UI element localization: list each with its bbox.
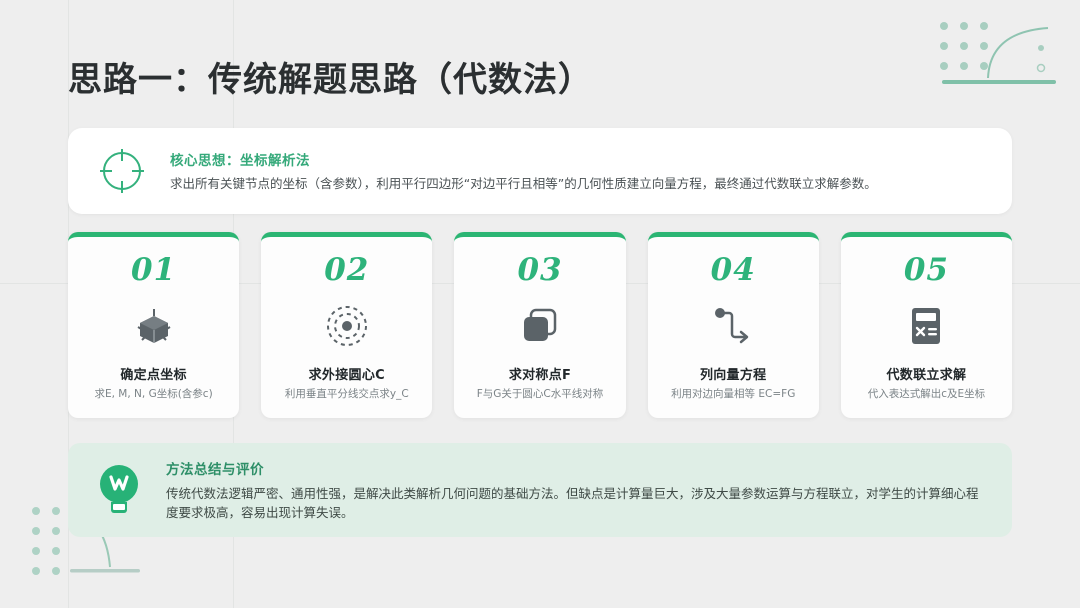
overlapping-squares-icon [514, 302, 566, 350]
cube-3d-icon [128, 302, 180, 350]
core-idea-body: 求出所有关键节点的坐标（含参数），利用平行四边形“对边平行且相等”的几何性质建立… [170, 175, 984, 194]
summary-heading: 方法总结与评价 [166, 458, 986, 478]
step-title: 确定点坐标 [120, 364, 187, 383]
step-number: 02 [324, 255, 369, 286]
step-number: 05 [904, 255, 949, 286]
step-card-05[interactable]: 05 代数联立求解 代入表达式解出c及E坐标 [841, 232, 1012, 418]
step-number: 04 [711, 255, 756, 286]
lightbulb-icon [94, 462, 144, 518]
core-idea-text-group: 核心思想：坐标解析法 求出所有关键节点的坐标（含参数），利用平行四边形“对边平行… [170, 149, 984, 194]
page-title: 思路一：传统解题思路（代数法） [68, 52, 593, 101]
crosshair-target-icon [96, 145, 148, 197]
step-card-02[interactable]: 02 求外接圆心C 利用垂直平分线交点求y_C [261, 232, 432, 418]
step-subtitle: F与G关于圆心C水平线对称 [473, 388, 608, 402]
summary-box: 方法总结与评价 传统代数法逻辑严密、通用性强，是解决此类解析几何问题的基础方法。… [68, 443, 1012, 537]
summary-text-group: 方法总结与评价 传统代数法逻辑严密、通用性强，是解决此类解析几何问题的基础方法。… [166, 458, 986, 523]
step-title: 求外接圆心C [309, 364, 385, 383]
concentric-dashed-circles-icon [321, 302, 373, 350]
decoration-top-right [938, 18, 1064, 90]
step-title: 代数联立求解 [887, 364, 967, 383]
step-subtitle: 利用垂直平分线交点求y_C [281, 388, 413, 402]
step-number: 01 [131, 255, 176, 286]
step-title: 求对称点F [509, 364, 571, 383]
core-idea-heading: 核心思想：坐标解析法 [170, 149, 984, 169]
step-subtitle: 利用对边向量相等 EC=FG [667, 388, 799, 402]
step-card-01[interactable]: 01 确定点坐标 求E, M, N, G坐标(含参c) [68, 232, 239, 418]
path-arrow-icon [707, 302, 759, 350]
step-card-03[interactable]: 03 求对称点F F与G关于圆心C水平线对称 [454, 232, 625, 418]
calculator-icon [900, 302, 952, 350]
summary-body: 传统代数法逻辑严密、通用性强，是解决此类解析几何问题的基础方法。但缺点是计算量巨… [166, 484, 986, 523]
steps-container: 01 确定点坐标 求E, M, N, G坐标(含参c) 02 [68, 232, 1012, 418]
step-subtitle: 代入表达式解出c及E坐标 [864, 388, 989, 402]
step-card-04[interactable]: 04 列向量方程 利用对边向量相等 EC=FG [648, 232, 819, 418]
step-title: 列向量方程 [700, 364, 767, 383]
step-number: 03 [517, 255, 562, 286]
core-idea-box: 核心思想：坐标解析法 求出所有关键节点的坐标（含参数），利用平行四边形“对边平行… [68, 128, 1012, 214]
decoration-dots-arc-icon [938, 18, 1064, 90]
step-subtitle: 求E, M, N, G坐标(含参c) [91, 388, 217, 402]
